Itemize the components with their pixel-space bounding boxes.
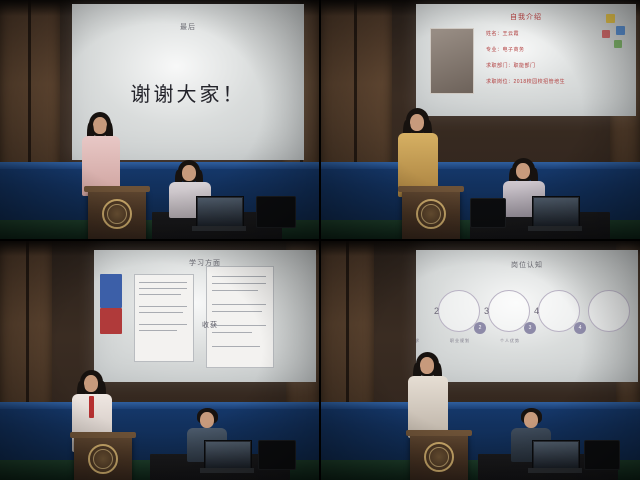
slide-decor-chip	[614, 40, 622, 48]
photo-panel-top-right: 自我介绍 姓名：王云霞 专业：电子商务 求职部门：职能部门 求职岗位：2018校…	[320, 0, 640, 240]
slide-header: 岗位认知	[416, 260, 638, 270]
head	[84, 375, 98, 392]
monitor	[256, 196, 296, 228]
laptop-screen	[532, 440, 580, 470]
head	[182, 165, 196, 181]
slide-decor-chip	[616, 26, 625, 35]
slide-header: 学习方面	[94, 258, 316, 268]
lanyard	[89, 396, 94, 418]
head	[420, 357, 434, 374]
podium-emblem	[416, 199, 446, 229]
head	[410, 114, 424, 131]
projection-screen: 学习方面 学习 收获	[94, 250, 316, 382]
slide-circle-label: 个人优势	[480, 338, 540, 344]
auditorium-scene-bl: 学习方面 学习 收获	[0, 240, 320, 480]
podium-emblem	[424, 442, 454, 472]
slide-line: 求职岗位：2018校园校招管培生	[486, 78, 565, 85]
laptop-base	[528, 468, 582, 473]
laptop-screen	[532, 196, 580, 228]
auditorium-scene-tr: 自我介绍 姓名：王云霞 专业：电子商务 求职部门：职能部门 求职岗位：2018校…	[320, 0, 640, 240]
podium	[88, 190, 146, 240]
slide-decor-chip	[606, 14, 615, 23]
slide-header: 最后	[72, 22, 304, 32]
torso	[408, 376, 448, 438]
slide-decor-chip	[602, 30, 610, 38]
slide-headline: 谢谢大家！	[72, 78, 304, 107]
slide-circle-index: 4	[497, 306, 577, 316]
laptop-screen	[196, 196, 244, 228]
slide-decor-chip	[100, 308, 122, 334]
presenter-standing	[406, 352, 450, 442]
laptop-base	[200, 468, 254, 473]
podium-emblem	[88, 444, 118, 474]
podium	[74, 436, 132, 480]
slide-line: 求职部门：职能部门	[486, 62, 536, 69]
photo-panel-top-left: 最后 谢谢大家！	[0, 0, 320, 240]
slide-label-right: 收获	[180, 320, 240, 330]
photo-panel-bottom-left: 学习方面 学习 收获	[0, 240, 320, 480]
slide-header: 自我介绍	[416, 12, 636, 22]
collage-seam-horizontal	[0, 239, 640, 241]
monitor	[258, 440, 296, 470]
podium	[410, 434, 468, 480]
head	[524, 412, 538, 428]
podium-emblem	[102, 199, 132, 229]
laptop-base	[528, 226, 582, 231]
laptop-base	[192, 226, 246, 231]
slide-badge: 2	[474, 322, 486, 334]
slide-badge: 3	[524, 322, 536, 334]
auditorium-scene-br: 岗位认知 1 2 2 3 3 4 4 岗位职责 任职要求 职业规划 个人优势	[320, 240, 640, 480]
slide-badge: 4	[574, 322, 586, 334]
head	[200, 412, 214, 428]
slide-doc-panel	[206, 266, 274, 368]
monitor	[470, 198, 506, 228]
projection-screen: 自我介绍 姓名：王云霞 专业：电子商务 求职部门：职能部门 求职岗位：2018校…	[416, 4, 636, 116]
photo-collage: 最后 谢谢大家！	[0, 0, 640, 480]
monitor	[584, 440, 620, 470]
photo-panel-bottom-right: 岗位认知 1 2 2 3 3 4 4 岗位职责 任职要求 职业规划 个人优势	[320, 240, 640, 480]
slide-circle	[588, 290, 630, 332]
head	[93, 117, 107, 134]
slide-line: 姓名：王云霞	[486, 30, 519, 37]
head	[516, 163, 530, 179]
podium	[402, 190, 460, 240]
slide-portrait-photo	[430, 28, 474, 94]
laptop-screen	[204, 440, 252, 470]
slide-decor-chip	[100, 274, 122, 308]
auditorium-scene-tl: 最后 谢谢大家！	[0, 0, 320, 240]
slide-line: 专业：电子商务	[486, 46, 525, 53]
